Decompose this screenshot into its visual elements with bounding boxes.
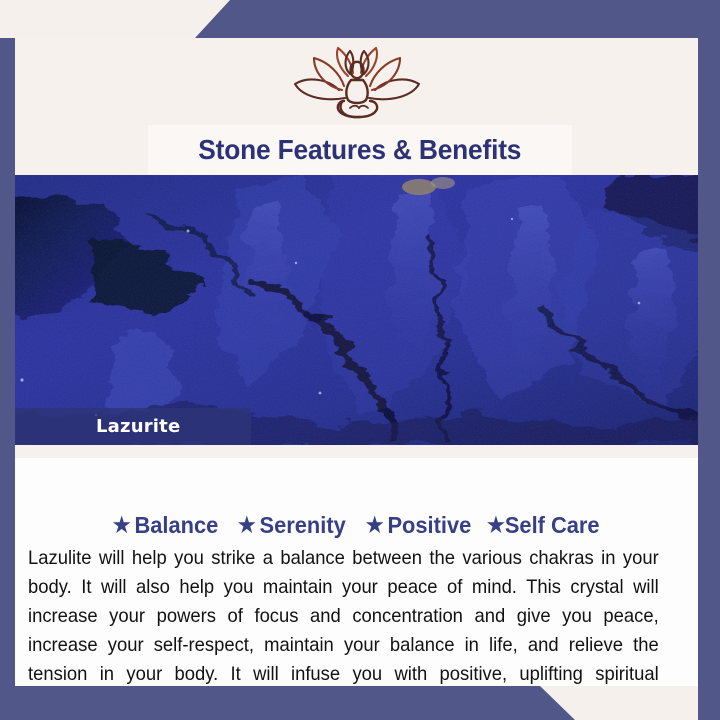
star-icon: ★ [487, 515, 505, 536]
stone-name: Lazurite [96, 416, 180, 437]
stone-description: Lazulite will help you strike a balance … [28, 544, 659, 686]
description-panel: ★ Balance ★ Serenity ★ Positive ★ Self C… [15, 458, 698, 686]
title-banner: Stone Features & Benefits [148, 125, 572, 175]
star-icon: ★ [113, 515, 131, 536]
star-icon: ★ [366, 515, 384, 536]
benefit-item: ★ Balance [113, 512, 218, 539]
star-icon: ★ [238, 515, 256, 536]
page-title: Stone Features & Benefits [199, 134, 522, 166]
benefit-label: Serenity [260, 512, 346, 539]
stone-name-tag: Lazurite [15, 408, 251, 445]
infographic-page: BUDDHA STONES Stone Features & Benefits [0, 0, 720, 720]
benefit-label: Self Care [505, 512, 600, 539]
benefit-item: ★ Positive [366, 512, 471, 539]
benefit-item: ★ Self Care [487, 512, 600, 539]
bottom-blue-band [0, 686, 720, 720]
stone-image [15, 175, 698, 445]
content-card: BUDDHA STONES Stone Features & Benefits [15, 38, 698, 686]
benefit-label: Positive [387, 512, 471, 539]
cream-divider-strip [15, 445, 698, 458]
lotus-meditation-icon [282, 46, 432, 122]
right-blue-rail [698, 0, 720, 720]
benefit-label: Balance [135, 512, 219, 539]
benefit-item: ★ Serenity [238, 512, 346, 539]
left-blue-rail [0, 38, 15, 720]
benefits-row: ★ Balance ★ Serenity ★ Positive ★ Self C… [15, 512, 698, 539]
